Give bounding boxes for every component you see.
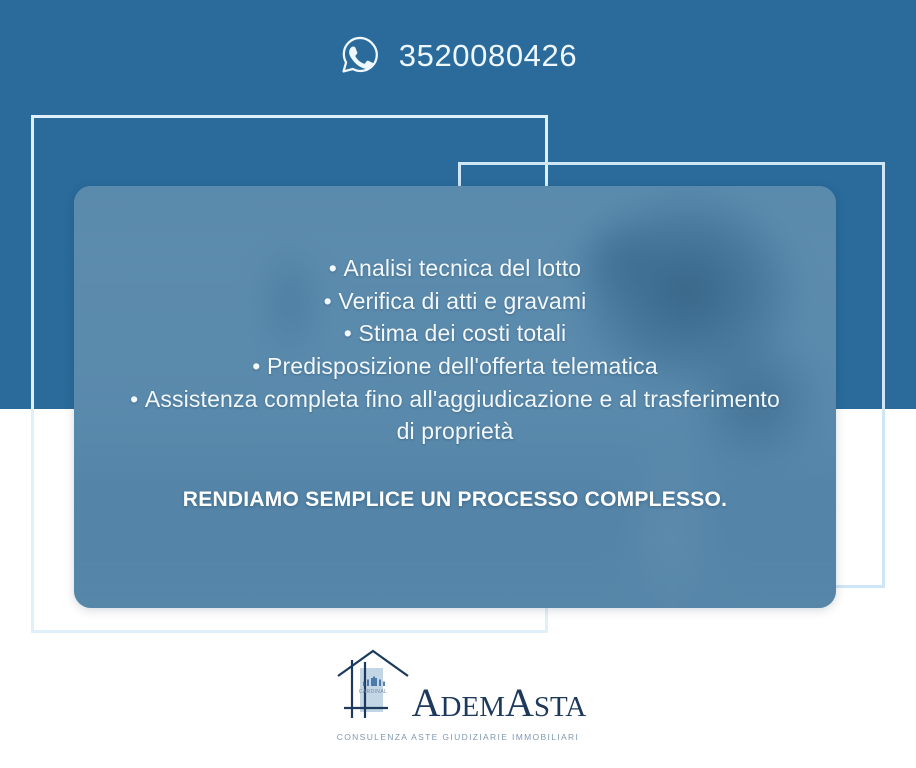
house-building-icon: CARDINAL bbox=[330, 648, 416, 724]
svg-text:CARDINAL: CARDINAL bbox=[358, 689, 386, 695]
list-item: Assistenza completa fino all'aggiudicazi… bbox=[125, 383, 785, 448]
poster-canvas: 3520080426 Analisi tecnica del lotto Ver… bbox=[0, 0, 916, 768]
wordmark-sta: STA bbox=[534, 691, 586, 723]
contact-header: 3520080426 bbox=[0, 34, 916, 76]
list-item: Stima dei costi totali bbox=[125, 317, 785, 350]
wordmark-dem: DEM bbox=[441, 691, 505, 723]
content-card: Analisi tecnica del lotto Verifica di at… bbox=[74, 186, 836, 608]
list-item: Analisi tecnica del lotto bbox=[125, 252, 785, 285]
service-list: Analisi tecnica del lotto Verifica di at… bbox=[125, 252, 785, 448]
list-item: Predisposizione dell'offerta telematica bbox=[125, 350, 785, 383]
whatsapp-icon[interactable] bbox=[339, 34, 381, 76]
wordmark-a1: A bbox=[412, 680, 441, 725]
brand-wordmark: ADEMASTA bbox=[412, 684, 587, 722]
list-item: Verifica di atti e gravami bbox=[125, 285, 785, 318]
brand-logo: CARDINAL ADEMASTA CONSULENZA ASTE GIUDIZ… bbox=[0, 648, 916, 742]
brand-subtitle: CONSULENZA ASTE GIUDIZIARIE IMMOBILIARI bbox=[337, 732, 580, 742]
wordmark-a2: A bbox=[505, 680, 534, 725]
tagline: RENDIAMO SEMPLICE UN PROCESSO COMPLESSO. bbox=[183, 488, 727, 512]
phone-number[interactable]: 3520080426 bbox=[399, 40, 577, 71]
